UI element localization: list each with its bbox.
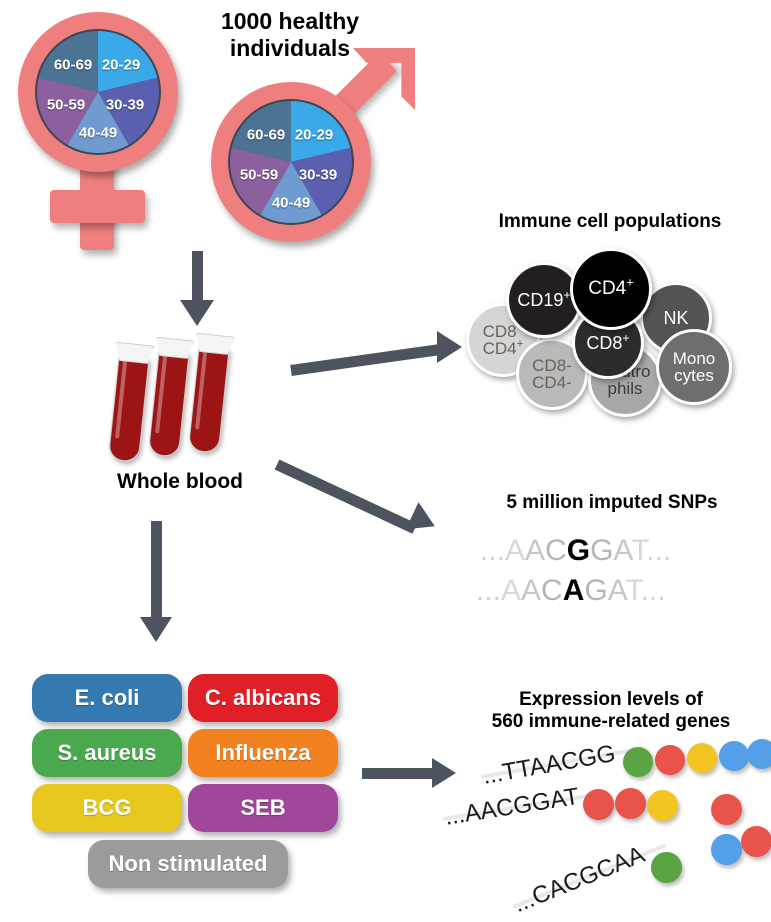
bead-red [711,794,742,825]
pie-label-40-49: 40-49 [79,125,117,142]
cell-cd4pos: CD4+ [570,248,652,330]
male-age-pie: 20-29 30-39 40-49 50-59 60-69 [228,99,354,225]
pill-e-coli[interactable]: E. coli [32,674,182,722]
bead-green [623,747,653,777]
pie-label-60-69: 60-69 [247,127,285,144]
bead-red [583,789,614,820]
cell-monocytes: Mono cytes [656,329,732,405]
snp-prefix-dots: ... [476,574,501,607]
pie-label-60-69: 60-69 [54,57,92,74]
bead-blue [747,739,771,769]
pie-label-20-29: 20-29 [102,57,140,74]
whole-blood-label: Whole blood [75,470,285,495]
bead-red [615,788,646,819]
bead-yellow [687,743,717,773]
female-symbol-group: 20-29 30-39 40-49 50-59 60-69 [8,8,198,253]
expression-heading: Expression levels of 560 immune-related … [456,689,766,734]
pie-label-30-39: 30-39 [106,97,144,114]
snp-prefix-dots: ... [480,534,505,567]
snp-suffix-dots: ... [641,574,666,607]
snp-sequence-row-2: ...AACAGAT... [476,574,666,608]
male-symbol-group: 20-29 30-39 40-49 50-59 60-69 [205,52,420,247]
bead-red [655,745,685,775]
bead-blue [711,834,742,865]
bead-blue [719,741,749,771]
blood-tubes-group [118,336,258,456]
expression-strand-3: ...CACGCAA [455,830,770,910]
snp-highlight-1: G [567,534,590,567]
pill-s-aureus[interactable]: S. aureus [32,729,182,777]
strand-2-sequence: ...AACGGAT [443,783,581,832]
snp-highlight-2: A [563,574,585,607]
snp-sequence-row-1: ...AACGGAT... [480,534,671,568]
snp-suffix-dots: ... [646,534,671,567]
bead-yellow [647,790,678,821]
pill-seb[interactable]: SEB [188,784,338,832]
figure-canvas: 1000 healthy individuals 20-29 30-39 40-… [0,0,771,922]
immune-cell-heading: Immune cell populations [455,211,765,233]
female-age-pie: 20-29 30-39 40-49 50-59 60-69 [35,29,161,155]
pill-bcg[interactable]: BCG [32,784,182,832]
pie-label-40-49: 40-49 [272,195,310,212]
pill-influenza[interactable]: Influenza [188,729,338,777]
snp-sequence-block: ...AACGGAT... ...AACAGAT... [470,530,760,620]
pill-c-albicans[interactable]: C. albicans [188,674,338,722]
immune-cell-bubbles: CD8+CD4+ CD19+ CD4+ NK CD8+ Mono cytes C… [460,245,765,415]
bead-green [651,852,682,883]
pie-label-50-59: 50-59 [47,97,85,114]
pie-label-50-59: 50-59 [240,167,278,184]
snp-heading: 5 million imputed SNPs [462,492,762,514]
bead-red [741,826,771,857]
pie-label-20-29: 20-29 [295,127,333,144]
female-stem-horizontal [50,190,145,223]
stimulation-pills-group: E. coli C. albicans S. aureus Influenza … [30,674,350,899]
pill-non-stimulated[interactable]: Non stimulated [88,840,288,888]
pie-label-30-39: 30-39 [299,167,337,184]
strand-3-sequence: ...CACGCAA [510,841,649,919]
expression-strands-group: ...TTAACGG ...AACGGAT ...CACGCAA [455,745,770,910]
